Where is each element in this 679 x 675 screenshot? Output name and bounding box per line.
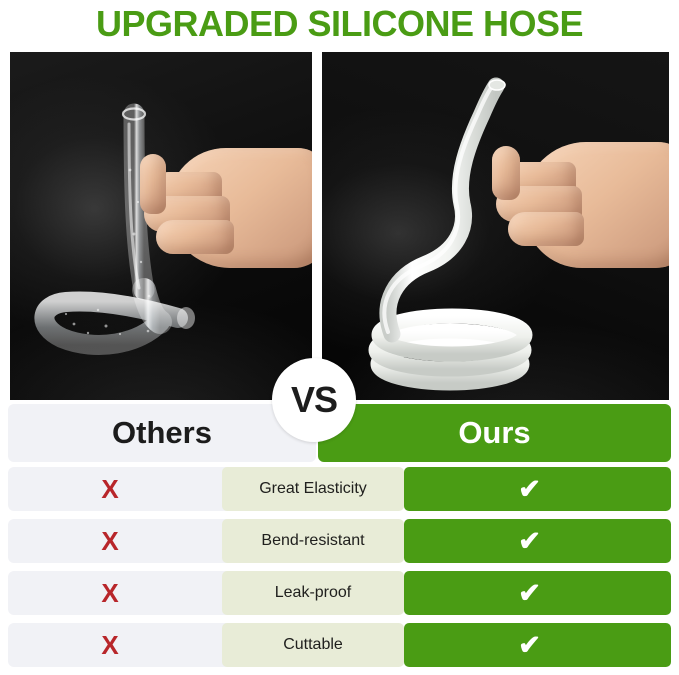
x-icon: X (101, 526, 118, 557)
feature-label-cell: Leak-proof (222, 571, 404, 615)
feature-label: Cuttable (283, 636, 343, 654)
feature-comparison-rows: X Great Elasticity ✔ X Bend-resistant ✔ … (0, 467, 679, 675)
ours-cell: ✔ (404, 571, 671, 615)
ours-column-header: Ours (318, 404, 671, 462)
table-row: X Great Elasticity ✔ (0, 467, 679, 511)
thumb (492, 146, 520, 200)
feature-label: Bend-resistant (261, 532, 364, 550)
ours-cell: ✔ (404, 467, 671, 511)
ours-cell: ✔ (404, 519, 671, 563)
photo-others-clear-hose (10, 52, 312, 400)
hand-holding-silicone-hose (472, 140, 669, 280)
page-title: UPGRADED SILICONE HOSE (0, 2, 679, 46)
vs-badge: VS (272, 358, 356, 442)
thumb (140, 154, 166, 214)
others-column-header: Others (8, 404, 316, 462)
finger (156, 220, 234, 254)
table-row: X Bend-resistant ✔ (0, 519, 679, 563)
photo-ours-silicone-hose (322, 52, 669, 400)
finger (508, 212, 584, 246)
feature-label-cell: Great Elasticity (222, 467, 404, 511)
x-icon: X (101, 630, 118, 661)
feature-label: Great Elasticity (259, 480, 367, 498)
vs-label: VS (291, 382, 337, 418)
x-icon: X (101, 474, 118, 505)
feature-label-cell: Bend-resistant (222, 519, 404, 563)
photo-strip (10, 52, 669, 400)
x-icon: X (101, 578, 118, 609)
feature-label: Leak-proof (275, 584, 352, 602)
check-icon: ✔ (518, 578, 541, 609)
others-label: Others (112, 415, 212, 451)
check-icon: ✔ (518, 630, 541, 661)
table-row: X Leak-proof ✔ (0, 571, 679, 615)
feature-label-cell: Cuttable (222, 623, 404, 667)
ours-label: Ours (458, 415, 530, 451)
hand-holding-clear-hose (122, 144, 312, 294)
check-icon: ✔ (518, 526, 541, 557)
product-comparison-infographic: UPGRADED SILICONE HOSE (0, 0, 679, 675)
ours-cell: ✔ (404, 623, 671, 667)
check-icon: ✔ (518, 474, 541, 505)
table-row: X Cuttable ✔ (0, 623, 679, 667)
